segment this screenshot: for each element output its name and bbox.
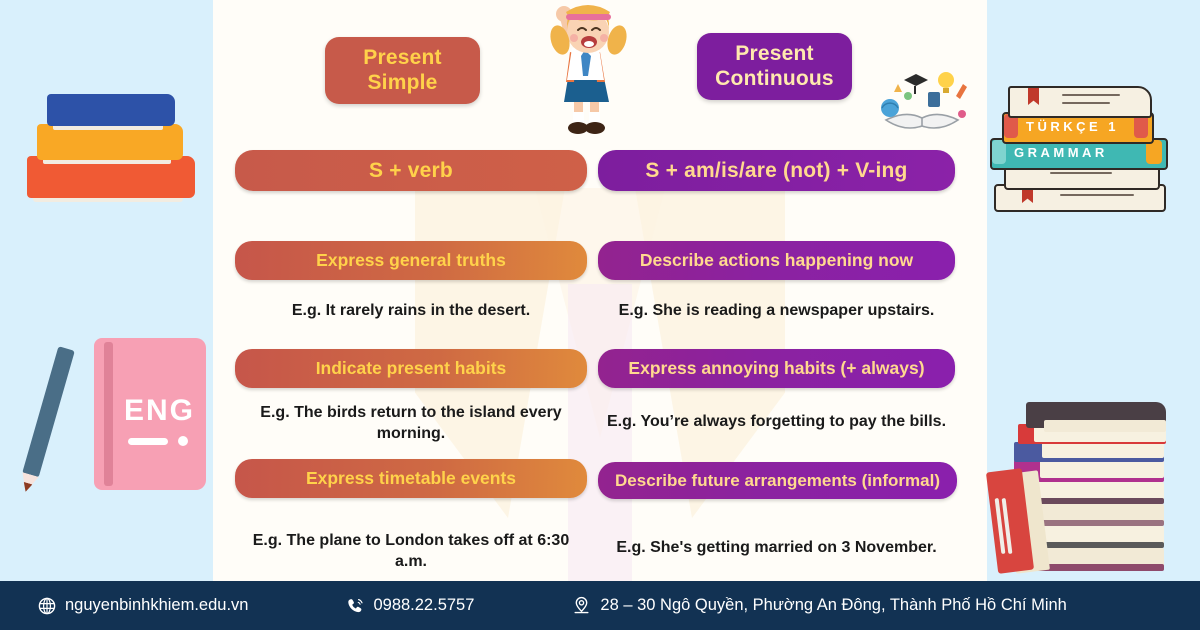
notebook-spine [104,342,113,486]
column-title-present-continuous: Present Continuous [697,33,852,100]
present-simple-title-line2: Simple [363,71,441,95]
notebook-underline [128,438,168,445]
location-pin-icon [572,596,591,615]
pencil-icon [22,346,75,478]
contact-footer-bar: nguyenbinhkhiem.edu.vn 0988.22.5757 [0,581,1200,630]
eng-notebook-illustration: ENG [22,320,212,500]
open-book-ideas-icon [868,62,976,140]
poster-canvas: Present Simple Present Continuous [0,0,1200,630]
footer-phone-text: 0988.22.5757 [373,596,474,615]
usage-pill-continuous-3: Describe future arrangements (informal) [598,462,957,499]
present-simple-title-line1: Present [363,46,441,70]
usage-pill-simple-3: Express timetable events [235,459,587,498]
present-continuous-title-line2: Continuous [715,67,834,91]
example-simple-3: E.g. The plane to London takes off at 6:… [243,531,579,573]
example-simple-2: E.g. The birds return to the island ever… [243,403,579,445]
column-title-present-simple: Present Simple [325,37,480,104]
footer-website[interactable]: nguyenbinhkhiem.edu.vn [37,596,248,615]
present-continuous-title-line1: Present [715,42,834,66]
grammar-book-stack-illustration: GRAMMAR TÜRKÇE 1 [988,80,1173,212]
usage-pill-simple-2: Indicate present habits [235,349,587,388]
eng-notebook: ENG [94,338,206,490]
usage-pill-simple-1: Express general truths [235,241,587,280]
formula-present-continuous: S + am/is/are (not) + V-ing [598,150,955,191]
footer-website-text: nguyenbinhkhiem.edu.vn [65,596,248,615]
book-stack-illustration-bottomright [988,398,1173,576]
eng-notebook-label: ENG [124,394,195,428]
example-continuous-1: E.g. She is reading a newspaper upstairs… [598,301,955,322]
formula-present-simple: S + verb [235,150,587,191]
phone-icon [345,596,364,615]
usage-pill-continuous-1: Describe actions happening now [598,241,955,280]
footer-phone[interactable]: 0988.22.5757 [345,596,474,615]
book-stack-illustration-topleft [27,78,207,213]
notebook-dot [178,436,188,446]
grammar-book-label: GRAMMAR [1014,145,1108,160]
footer-address-text: 28 – 30 Ngô Quyền, Phường An Đông, Thành… [600,596,1066,615]
usage-pill-continuous-2: Express annoying habits (+ always) [598,349,955,388]
example-simple-1: E.g. It rarely rains in the desert. [235,301,587,322]
footer-address[interactable]: 28 – 30 Ngô Quyền, Phường An Đông, Thành… [572,596,1066,615]
example-continuous-3: E.g. She's getting married on 3 November… [598,538,955,559]
example-continuous-2: E.g. You’re always forgetting to pay the… [598,412,955,433]
schoolgirl-illustration [530,0,640,140]
turkce-book-label: TÜRKÇE 1 [1026,119,1119,134]
globe-icon [37,596,56,615]
